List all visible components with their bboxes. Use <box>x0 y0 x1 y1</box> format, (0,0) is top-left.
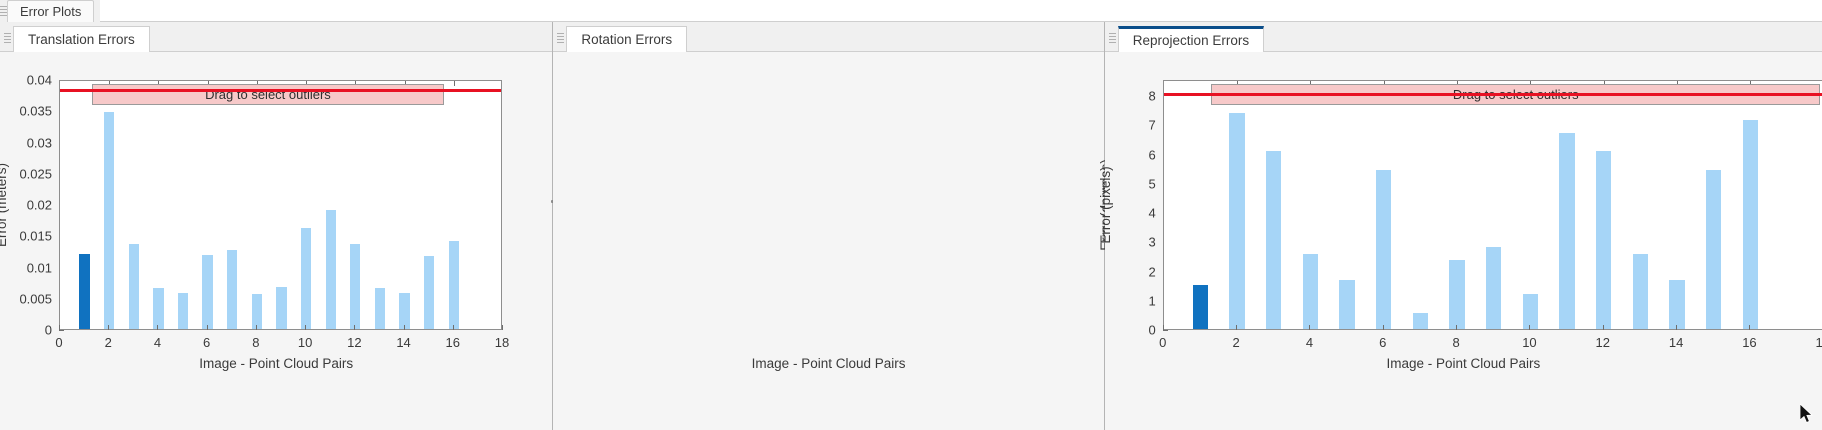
bar[interactable] <box>1596 151 1611 329</box>
bar[interactable] <box>79 254 89 329</box>
y-axis-tick-label: 6 <box>1105 147 1156 162</box>
x-axis-tick-mark <box>1383 325 1384 330</box>
pane-body-3: Error (pixels)012345678Drag to select ou… <box>1105 52 1822 430</box>
bar[interactable] <box>449 241 459 329</box>
x-axis-label: Image - Point Cloud Pairs <box>0 356 552 371</box>
x-axis-tick-label: 2 <box>1232 335 1239 350</box>
bar[interactable] <box>350 244 360 329</box>
bar[interactable] <box>1413 313 1428 329</box>
plot-area-1[interactable]: Drag to select outliers <box>59 80 502 330</box>
x-axis-tick-mark <box>256 325 257 330</box>
bar[interactable] <box>1633 254 1648 329</box>
x-axis-tick-mark <box>108 325 109 330</box>
y-axis-tick-label: 7 <box>1105 118 1156 133</box>
x-axis-tick-mark <box>1749 325 1750 330</box>
x-axis-tick-label: 16 <box>1742 335 1756 350</box>
y-axis-tick-label: 1 <box>553 256 1156 271</box>
x-axis-tick-label: 4 <box>1306 335 1313 350</box>
outlier-selection-band[interactable]: Drag to select outliers <box>92 84 444 105</box>
drag-grip-icon[interactable] <box>1109 31 1116 45</box>
x-axis-tick-label: 8 <box>1452 335 1459 350</box>
x-axis-tick-mark <box>1309 325 1310 330</box>
x-axis-tick-mark <box>207 325 208 330</box>
y-axis-tick-label: 2 <box>1105 264 1156 279</box>
tab-label: Reprojection Errors <box>1133 33 1249 48</box>
tab-rotation-errors[interactable]: Rotation Errors <box>566 26 687 52</box>
x-axis-label: Image - Point Cloud Pairs <box>553 356 1103 371</box>
y-axis-tick-label: 0 <box>1105 323 1156 338</box>
bar[interactable] <box>375 288 385 329</box>
x-axis-tick-label: 0 <box>55 335 62 350</box>
outlier-threshold-line[interactable] <box>60 89 502 92</box>
tab-label: Translation Errors <box>28 32 135 47</box>
bar[interactable] <box>227 250 237 329</box>
plot-pane-3: Reprojection ErrorsError (pixels)0123456… <box>1105 22 1822 430</box>
y-axis-tick-label: 0.005 <box>0 291 52 306</box>
x-axis-tick-mark <box>1529 325 1530 330</box>
y-axis-tick-label: 0 <box>553 323 1156 338</box>
x-axis-tick-mark <box>1456 325 1457 330</box>
x-axis-tick-label: 16 <box>446 335 460 350</box>
y-axis-tick-label: 4 <box>1105 206 1156 221</box>
x-axis-tick-label: 12 <box>347 335 361 350</box>
bar[interactable] <box>424 256 434 329</box>
bar[interactable] <box>104 112 114 330</box>
plot-pane-2: Rotation ErrorsError (degrees)00.511.522… <box>553 22 1103 430</box>
bar[interactable] <box>1266 151 1281 329</box>
bar[interactable] <box>1229 113 1244 329</box>
tab-error-plots-label: Error Plots <box>20 4 81 19</box>
y-axis-tick-label: 0.04 <box>0 73 52 88</box>
y-axis-tick-label: 0 <box>0 323 52 338</box>
bar[interactable] <box>301 228 311 329</box>
x-axis-tick-label: 2 <box>105 335 112 350</box>
drag-grip-icon[interactable] <box>4 31 11 45</box>
bar[interactable] <box>399 293 409 329</box>
x-axis-label: Image - Point Cloud Pairs <box>1105 356 1822 371</box>
bar[interactable] <box>1376 170 1391 329</box>
bar[interactable] <box>129 244 139 329</box>
outer-tab-strip-filler <box>100 0 1822 22</box>
drag-grip-icon[interactable] <box>0 4 7 18</box>
bar[interactable] <box>1303 254 1318 329</box>
y-axis-tick-label: 0.02 <box>0 198 52 213</box>
plot-area-3[interactable]: Drag to select outliers <box>1163 80 1822 330</box>
y-axis-tick-label: 3.5 <box>553 89 1156 104</box>
drag-grip-icon[interactable] <box>557 31 564 45</box>
x-axis-tick-label: 12 <box>1596 335 1610 350</box>
bar[interactable] <box>153 288 163 329</box>
error-plots-app: Error Plots Translation ErrorsError (met… <box>0 0 1822 430</box>
x-axis-tick-mark <box>1163 325 1164 330</box>
x-axis-tick-mark <box>453 325 454 330</box>
x-axis-tick-mark <box>354 325 355 330</box>
outlier-threshold-line[interactable] <box>1164 93 1822 96</box>
x-axis-tick-mark <box>502 325 503 330</box>
x-axis-tick-label: 10 <box>298 335 312 350</box>
x-axis-tick-mark <box>157 325 158 330</box>
inner-tab-bar-1: Translation Errors <box>0 22 552 52</box>
inner-tab-bar-3: Reprojection Errors <box>1105 22 1822 52</box>
tab-reprojection-errors[interactable]: Reprojection Errors <box>1118 26 1264 52</box>
bar[interactable] <box>1559 133 1574 329</box>
x-axis-tick-mark <box>404 325 405 330</box>
x-axis-tick-mark <box>305 325 306 330</box>
y-axis-tick-label: 3 <box>553 123 1156 138</box>
bar[interactable] <box>1743 120 1758 329</box>
y-axis-tick-label: 0.5 <box>553 289 1156 304</box>
tab-label: Rotation Errors <box>581 32 672 47</box>
pane-body-2: Error (degrees)00.511.522.533.5Drag to s… <box>553 52 1103 430</box>
y-axis-tick-label: 0.025 <box>0 166 52 181</box>
bar[interactable] <box>1449 260 1464 329</box>
x-axis-tick-mark <box>1236 325 1237 330</box>
pane-body-1: Error (meters)00.0050.010.0150.020.0250.… <box>0 52 552 430</box>
tab-translation-errors[interactable]: Translation Errors <box>13 26 150 52</box>
y-axis-tick-label: 0.03 <box>0 135 52 150</box>
bar[interactable] <box>1706 170 1721 329</box>
inner-tab-bar-2: Rotation Errors <box>553 22 1103 52</box>
bar[interactable] <box>276 287 286 330</box>
y-axis-tick-label: 2.5 <box>553 156 1156 171</box>
y-axis-tick-label: 0.035 <box>0 104 52 119</box>
y-axis-tick-label: 8 <box>1105 89 1156 104</box>
x-axis-tick-label: 4 <box>154 335 161 350</box>
bar[interactable] <box>1486 247 1501 329</box>
bar[interactable] <box>252 294 262 329</box>
tab-error-plots[interactable]: Error Plots <box>7 0 94 22</box>
x-axis-tick-mark <box>1676 325 1677 330</box>
x-axis-tick-label: 0 <box>1159 335 1166 350</box>
y-axis-tick-label: 2 <box>553 189 1156 204</box>
x-axis-tick-mark <box>59 325 60 330</box>
x-axis-tick-label: 14 <box>1669 335 1683 350</box>
x-axis-tick-label: 10 <box>1522 335 1536 350</box>
bar[interactable] <box>326 210 336 329</box>
y-axis-tick-label: 1 <box>1105 293 1156 308</box>
x-axis-tick-mark <box>1603 325 1604 330</box>
mouse-cursor-icon <box>1800 404 1816 424</box>
x-axis-tick-label: 18 <box>1816 335 1822 350</box>
bar[interactable] <box>202 255 212 329</box>
x-axis-tick-label: 18 <box>495 335 509 350</box>
y-axis-tick-label: 3 <box>1105 235 1156 250</box>
y-axis-tick-label: 0.01 <box>0 260 52 275</box>
x-axis-tick-label: 6 <box>1379 335 1386 350</box>
x-axis-tick-label: 6 <box>203 335 210 350</box>
plot-pane-1: Translation ErrorsError (meters)00.0050.… <box>0 22 552 430</box>
bar[interactable] <box>1339 280 1354 329</box>
y-axis-tick-label: 5 <box>1105 176 1156 191</box>
plot-panes: Translation ErrorsError (meters)00.0050.… <box>0 22 1822 430</box>
x-axis-top-tick-mark <box>454 81 455 86</box>
bar[interactable] <box>1669 280 1684 329</box>
outer-tab-strip: Error Plots <box>0 0 1822 23</box>
bar[interactable] <box>1523 294 1538 329</box>
x-axis-tick-label: 14 <box>396 335 410 350</box>
bar[interactable] <box>1193 285 1208 329</box>
x-axis-tick-label: 8 <box>252 335 259 350</box>
y-axis-tick-label: 1.5 <box>553 223 1156 238</box>
bar[interactable] <box>178 293 188 329</box>
y-axis-tick-label: 0.015 <box>0 229 52 244</box>
